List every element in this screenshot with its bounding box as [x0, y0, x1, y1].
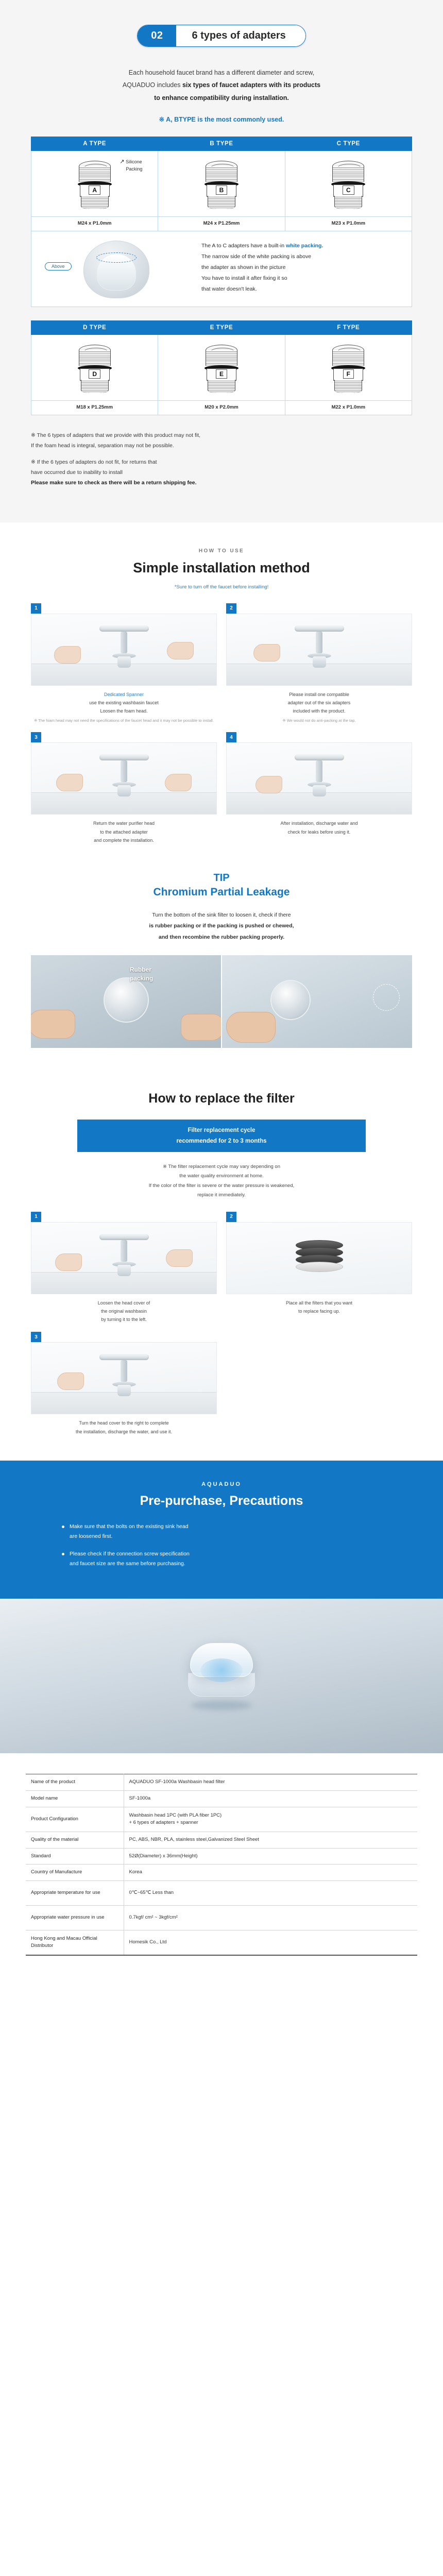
- spec-value: Washbasin head 1PC (with PLA fiber 1PC) …: [124, 1807, 417, 1832]
- adapter-dim-b: M24 x P1.25mm: [158, 217, 285, 231]
- silicone-packing-callout: ↗ Silicone Packing: [120, 158, 154, 172]
- disclaimer-1: ※ The 6 types of adapters that we provid…: [31, 431, 412, 451]
- precautions-section: AQUADUO Pre-purchase, Precautions Make s…: [0, 1461, 443, 1599]
- spec-value: 0℃~65℃ Less than: [124, 1881, 417, 1906]
- step-number: 3: [31, 732, 41, 742]
- step-image: [226, 1222, 412, 1294]
- adapter-illustration-f: F: [329, 345, 367, 394]
- adapters-intro: Each household faucet brand has a differ…: [0, 66, 443, 104]
- step-number: 2: [226, 603, 236, 614]
- adapter-dimension-row: M24 x P1.0mm M24 x P1.25mm M23 x P1.0mm: [31, 217, 412, 231]
- table-row: Appropriate water pressure in use 0.7kgf…: [26, 1906, 417, 1930]
- adapter-dim-a: M24 x P1.0mm: [31, 217, 158, 231]
- adapter-image-d: D: [31, 335, 158, 401]
- tip-photos: Rubber packing: [31, 955, 412, 1048]
- step-caption: Dedicated Spanner use the existing washb…: [31, 690, 217, 716]
- dashed-highlight: [96, 252, 137, 263]
- adapter-head-a: A TYPE: [31, 137, 158, 151]
- specification-table: Name of the product AQUADUO SF-1000a Was…: [26, 1774, 417, 1955]
- spec-value: AQUADUO SF-1000a Washbasin head filter: [124, 1774, 417, 1791]
- section-title: 6 types of adapters: [176, 25, 305, 46]
- replace-note: ※ The filter replacement cycle may vary …: [57, 1162, 386, 1200]
- spec-value: SF-1000a: [124, 1791, 417, 1807]
- spec-key: Country of Manufacture: [26, 1865, 124, 1881]
- step-image: [31, 1222, 217, 1294]
- table-row: Standard 52Ø(Diameter) x 36mm(Height): [26, 1848, 417, 1865]
- spec-value: Homesik Co., Ltd: [124, 1930, 417, 1955]
- tip-section: TIP Chromium Partial Leakage Turn the bo…: [0, 868, 443, 1069]
- tip-kicker: TIP: [0, 872, 443, 884]
- adapter-head-f: F TYPE: [285, 321, 412, 335]
- howto-step-4: 4 After installation, discharge water an…: [226, 732, 412, 844]
- section-badge: 02 6 types of adapters: [0, 25, 443, 47]
- step-caption: Loosen the head cover of the original wa…: [31, 1299, 217, 1324]
- adapter-image-row: ↗ Silicone Packing A B: [31, 151, 412, 217]
- spec-key: Appropriate temperature for use: [26, 1881, 124, 1906]
- adapter-dim-e: M20 x P2.0mm: [158, 401, 285, 415]
- intro-line-2: AQUADUO includes six types of faucet ada…: [0, 79, 443, 91]
- arrow-icon: ↗: [120, 159, 124, 165]
- table-row: Name of the product AQUADUO SF-1000a Was…: [26, 1774, 417, 1791]
- spec-key: Model name: [26, 1791, 124, 1807]
- step-caption: Return the water purifier head to the at…: [31, 819, 217, 844]
- spec-value: Korea: [124, 1865, 417, 1881]
- bullet-icon: [62, 1526, 64, 1528]
- step-caption: Place all the filters that you want to r…: [226, 1299, 412, 1315]
- step-number: 2: [226, 1212, 236, 1222]
- step-image: [31, 614, 217, 686]
- spec-key: Quality of the material: [26, 1832, 124, 1848]
- common-type-note: ※ A, BTYPE is the most commonly used.: [0, 115, 443, 123]
- intro-line-2-bold: six types of faucet adapters with its pr…: [182, 81, 320, 89]
- howto-step-2: 2 Please install one compatible adapter …: [226, 603, 412, 724]
- howto-steps: 1 Dedicated Spanner use the existing was…: [31, 603, 412, 844]
- step-number: 1: [31, 1212, 41, 1222]
- tip-body: Turn the bottom of the sink filter to lo…: [41, 910, 402, 943]
- replace-steps: 1 Loosen the head cover of the original …: [31, 1212, 412, 1436]
- packing-line-5: that water doesn't leak.: [201, 284, 404, 295]
- adapter-illustration-b: B: [202, 161, 241, 210]
- step-image: [226, 742, 412, 815]
- adapter-table-row2: D TYPE E TYPE F TYPE D: [31, 320, 412, 415]
- replace-title: How to replace the filter: [0, 1091, 443, 1106]
- step-number: 3: [31, 1332, 41, 1342]
- adapter-image-row: D E F: [31, 335, 412, 401]
- step-image: [31, 1342, 217, 1414]
- specification-section: Name of the product AQUADUO SF-1000a Was…: [0, 1753, 443, 1986]
- adapter-table-row1: A TYPE B TYPE C TYPE ↗ Silicone Packing …: [31, 137, 412, 231]
- above-label: Above: [45, 262, 72, 270]
- replace-cycle-bar: Filter replacement cycle recommended for…: [77, 1120, 366, 1151]
- product-detail-page: 02 6 types of adapters Each household fa…: [0, 0, 443, 1987]
- tip-title: Chromium Partial Leakage: [0, 886, 443, 899]
- replace-step-3: 3 Turn the head cover to the right to co…: [31, 1332, 217, 1435]
- table-row: Hong Kong and Macau Official Distributor…: [26, 1930, 417, 1955]
- adapter-head-row: D TYPE E TYPE F TYPE: [31, 321, 412, 335]
- disclaimer-2: ※ If the 6 types of adapters do not fit,…: [31, 457, 412, 488]
- product-image: [183, 1643, 260, 1709]
- step-caption: Please install one compatible adapter ou…: [226, 690, 412, 716]
- adapter-head-d: D TYPE: [31, 321, 158, 335]
- adapter-illustration-e: E: [202, 345, 241, 394]
- intro-line-3: to enhance compatibility during installa…: [0, 92, 443, 104]
- adapter-head-e: E TYPE: [158, 321, 285, 335]
- tip-photo-left: Rubber packing: [31, 955, 221, 1048]
- precaution-item: Make sure that the bolts on the existing…: [62, 1522, 381, 1542]
- howto-eyebrow: HOW TO USE: [0, 548, 443, 554]
- step-caption: After installation, discharge water and …: [226, 819, 412, 836]
- spec-key: Product Configuration: [26, 1807, 124, 1832]
- intro-line-1: Each household faucet brand has a differ…: [0, 66, 443, 79]
- step-image: [31, 742, 217, 815]
- spec-key: Appropriate water pressure in use: [26, 1906, 124, 1930]
- step-caption: Turn the head cover to the right to comp…: [31, 1419, 217, 1435]
- precautions-title: Pre-purchase, Precautions: [0, 1494, 443, 1509]
- howto-section: HOW TO USE Simple installation method *S…: [0, 522, 443, 868]
- adapter-image-e: E: [158, 335, 285, 401]
- adapter-dim-d: M18 x P1.25mm: [31, 401, 158, 415]
- packing-line-3: the adapter as shown in the picture: [201, 262, 404, 273]
- step-number: 1: [31, 603, 41, 614]
- step-number: 4: [226, 732, 236, 742]
- product-hero-photo: [0, 1599, 443, 1753]
- adapter-dim-c: M23 x P1.0mm: [285, 217, 412, 231]
- white-packing-explainer: Above The A to C adapters have a built-i…: [31, 231, 412, 307]
- adapter-image-c: C: [285, 151, 412, 217]
- spec-key: Standard: [26, 1848, 124, 1865]
- replace-step-2: 2 Place all the filters that you want to…: [226, 1212, 412, 1324]
- table-row: Quality of the material PC, ABS, NBR, PL…: [26, 1832, 417, 1848]
- adapter-head-c: C TYPE: [285, 137, 412, 151]
- table-row: Country of Manufacture Korea: [26, 1865, 417, 1881]
- tip-photo-right: [222, 955, 412, 1048]
- step-mini-note: ※ The foam head may not need the specifi…: [31, 718, 217, 724]
- adapter-image-f: F: [285, 335, 412, 401]
- filter-stack-illustration: [296, 1240, 343, 1274]
- table-row: Product Configuration Washbasin head 1PC…: [26, 1807, 417, 1832]
- spec-value: 0.7kgf/ cm² ~ 3kgf/cm²: [124, 1906, 417, 1930]
- packing-line-2: The narrow side of the white packing is …: [201, 251, 404, 262]
- adapters-disclaimer: ※ The 6 types of adapters that we provid…: [31, 431, 412, 488]
- adapter-illustration-c: C: [329, 161, 367, 210]
- precautions-list: Make sure that the bolts on the existing…: [62, 1522, 381, 1569]
- step-image: [226, 614, 412, 686]
- brand-name: AQUADUO: [0, 1481, 443, 1487]
- bullet-icon: [62, 1553, 64, 1555]
- spec-value: 52Ø(Diameter) x 36mm(Height): [124, 1848, 417, 1865]
- rubber-packing-label: Rubber packing: [130, 965, 153, 982]
- adapter-illustration-a: A: [76, 161, 114, 210]
- howto-step-1: 1 Dedicated Spanner use the existing was…: [31, 603, 217, 724]
- white-packing-text: The A to C adapters have a built-in whit…: [201, 241, 412, 298]
- section-number: 02: [138, 25, 176, 46]
- adapter-dim-f: M22 x P1.0mm: [285, 401, 412, 415]
- packing-line-1: The A to C adapters have a built-in whit…: [201, 241, 404, 251]
- intro-line-2-prefix: AQUADUO includes: [123, 81, 182, 89]
- table-row: Appropriate temperature for use 0℃~65℃ L…: [26, 1881, 417, 1906]
- adapter-image-a: ↗ Silicone Packing A: [31, 151, 158, 217]
- spec-key: Hong Kong and Macau Official Distributor: [26, 1930, 124, 1955]
- adapter-head-row: A TYPE B TYPE C TYPE: [31, 137, 412, 151]
- packing-line-4: You have to install it after fixing it s…: [201, 273, 404, 284]
- replace-filter-section: How to replace the filter Filter replace…: [0, 1069, 443, 1460]
- spec-key: Name of the product: [26, 1774, 124, 1791]
- spec-value: PC, ABS, NBR, PLA, stainless steel,Galva…: [124, 1832, 417, 1848]
- adapters-section: 02 6 types of adapters Each household fa…: [0, 0, 443, 522]
- adapter-dimension-row: M18 x P1.25mm M20 x P2.0mm M22 x P1.0mm: [31, 401, 412, 415]
- howto-title: Simple installation method: [0, 560, 443, 576]
- adapter-image-b: B: [158, 151, 285, 217]
- dashed-highlight-circle: [373, 984, 400, 1011]
- table-row: Model name SF-1000a: [26, 1791, 417, 1807]
- adapter-head-b: B TYPE: [158, 137, 285, 151]
- packing-photo: [83, 241, 149, 298]
- precaution-item: Please check if the connection screw spe…: [62, 1549, 381, 1569]
- howto-step-3: 3 Return the water purifier head to the …: [31, 732, 217, 844]
- step-mini-note: ※ We would not do anti-packing at the ta…: [226, 718, 412, 724]
- adapter-illustration-d: D: [76, 345, 114, 394]
- replace-step-1: 1 Loosen the head cover of the original …: [31, 1212, 217, 1324]
- white-packing-photo: Above: [31, 241, 201, 298]
- howto-subtitle: *Sure to turn off the faucet before inst…: [0, 584, 443, 590]
